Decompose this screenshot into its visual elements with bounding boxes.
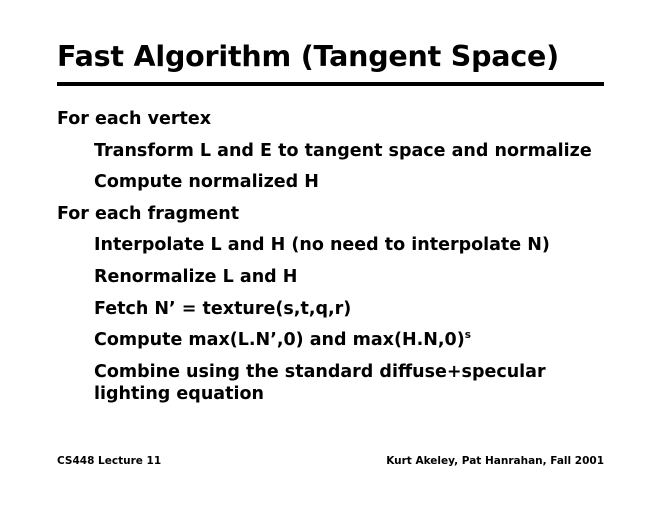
- body-line-renormalize-l-and-h: Renormalize L and H: [94, 266, 594, 288]
- title-underline-rule: [57, 82, 604, 86]
- body-line-for-each-fragment: For each fragment: [57, 203, 617, 225]
- body-line-compute-max: Compute max(L.N’,0) and max(H.N,0)s: [94, 329, 594, 351]
- body-line-interpolate-l-and-h: Interpolate L and H (no need to interpol…: [94, 234, 594, 256]
- slide-title: Fast Algorithm (Tangent Space): [57, 41, 559, 73]
- body-line-for-each-vertex: For each vertex: [57, 108, 617, 130]
- body-line-compute-normalized-h: Compute normalized H: [94, 171, 594, 193]
- footer-course-label: CS448 Lecture 11: [57, 455, 161, 467]
- footer-authors-label: Kurt Akeley, Pat Hanrahan, Fall 2001: [386, 455, 604, 467]
- slide-footer: CS448 Lecture 11 Kurt Akeley, Pat Hanrah…: [57, 455, 604, 467]
- body-line-compute-max-text: Compute max(L.N’,0) and max(H.N,0): [94, 330, 465, 350]
- slide-body: For each vertex Transform L and E to tan…: [0, 108, 660, 414]
- specular-exponent-superscript: s: [465, 329, 471, 341]
- body-line-fetch-texture: Fetch N’ = texture(s,t,q,r): [94, 298, 594, 320]
- body-line-transform-l-and-e: Transform L and E to tangent space and n…: [94, 140, 594, 162]
- body-line-combine-lighting: Combine using the standard diffuse+specu…: [94, 361, 594, 405]
- slide: Fast Algorithm (Tangent Space) For each …: [0, 0, 660, 510]
